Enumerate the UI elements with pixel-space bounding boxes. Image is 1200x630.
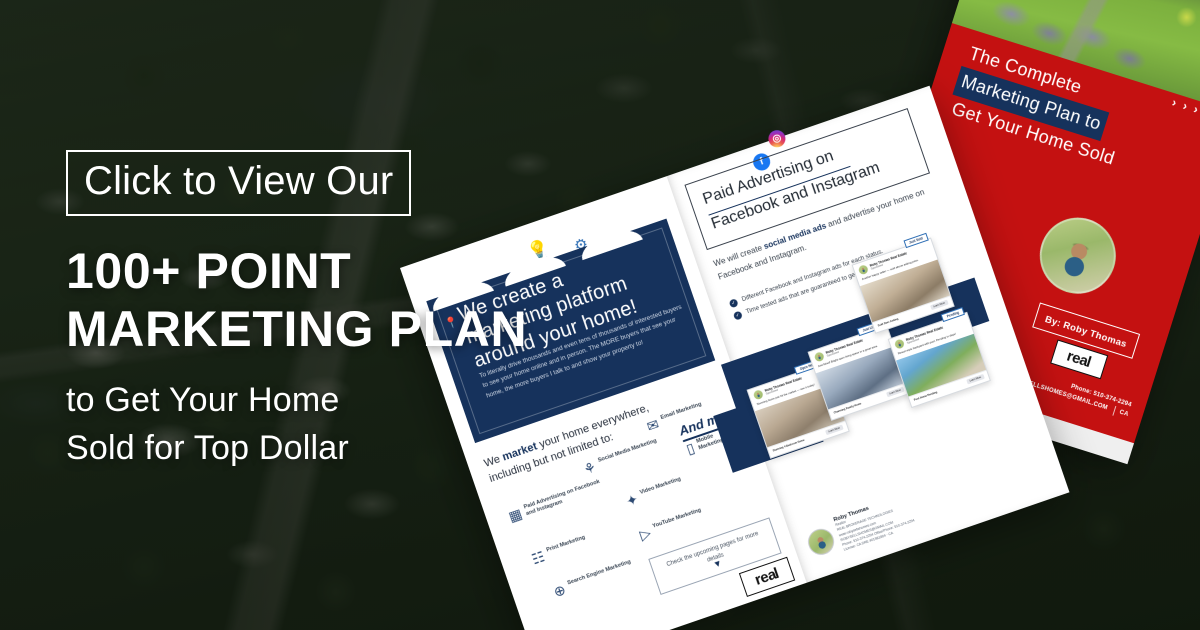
avatar bbox=[814, 351, 825, 362]
agent-avatar bbox=[804, 525, 837, 558]
learn-more-button[interactable]: Learn More bbox=[930, 300, 949, 311]
youtube-icon: ▷ bbox=[638, 525, 653, 542]
channel-paid-advertising: ▦ Paid Advertising on Facebook and Insta… bbox=[507, 477, 610, 525]
avatar bbox=[894, 338, 905, 349]
mobile-icon: ▯ bbox=[684, 440, 696, 456]
channel-label: Video Marketing bbox=[639, 476, 682, 497]
ad-cta-text: Pool Home Pending bbox=[914, 391, 938, 402]
ad-cta-text: Sold Over Asking bbox=[877, 318, 898, 328]
channel-label: Print Marketing bbox=[546, 535, 587, 555]
real-wordmark: real bbox=[1065, 348, 1093, 370]
learn-more-button[interactable]: Learn More bbox=[886, 387, 905, 398]
channel-label: YouTube Marketing bbox=[652, 507, 703, 530]
channel-print: ☷ Print Marketing bbox=[530, 519, 633, 566]
headline-line-1: 100+ POINT bbox=[66, 242, 536, 300]
cta-label: Click to View Our bbox=[84, 161, 393, 201]
learn-more-button[interactable]: Learn More bbox=[966, 374, 985, 385]
subheadline-line-2: Sold for Top Dollar bbox=[66, 426, 536, 472]
real-wordmark: real bbox=[753, 566, 781, 588]
down-arrow-icon: ▼ bbox=[712, 557, 725, 572]
check-icon: ✓ bbox=[729, 298, 739, 308]
channel-search-engine: ⊕ Search Engine Marketing bbox=[552, 552, 655, 599]
headline-overlay: Click to View Our 100+ POINT MARKETING P… bbox=[66, 150, 536, 472]
headline-line-2: MARKETING PLAN bbox=[66, 300, 536, 358]
check-icon: ✓ bbox=[733, 311, 743, 321]
video-icon: ✦ bbox=[624, 492, 640, 509]
learn-more-button[interactable]: Learn More bbox=[825, 425, 844, 436]
cta-button[interactable]: Click to View Our bbox=[66, 150, 411, 216]
avatar bbox=[753, 389, 764, 400]
search-engine-icon: ⊕ bbox=[552, 582, 568, 599]
subheadline-line-1: to Get Your Home bbox=[66, 378, 536, 424]
channel-label: Search Engine Marketing bbox=[567, 559, 633, 588]
channel-label: Paid Advertising on Facebook and Instagr… bbox=[523, 477, 610, 519]
print-icon: ☷ bbox=[530, 549, 546, 566]
social-media-icon: ⚘ bbox=[582, 459, 598, 476]
avatar bbox=[858, 264, 869, 275]
paid-ads-icon: ▦ bbox=[507, 506, 524, 524]
channel-video: ✦ Video Marketing bbox=[624, 462, 727, 509]
